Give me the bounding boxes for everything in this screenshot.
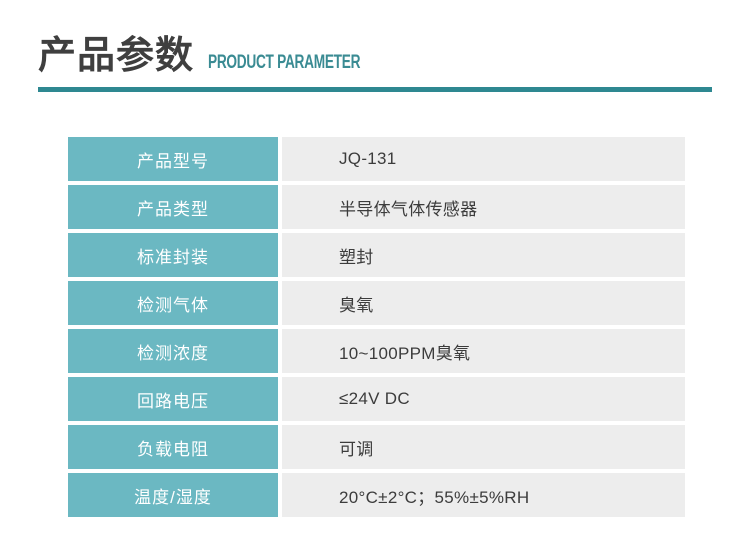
table-row: 回路电压 ≤24V DC [68,377,685,421]
table-row: 产品类型 半导体气体传感器 [68,185,685,229]
table-row: 标准封装 塑封 [68,233,685,277]
header-divider [38,87,712,92]
spec-value: 塑封 [282,233,685,277]
spec-value: 可调 [282,425,685,469]
header-title-group: 产品参数 PRODUCT PARAMETER [38,26,712,78]
spec-value: 10~100PPM臭氧 [282,329,685,373]
spec-label: 标准封装 [68,233,278,277]
spec-table: 产品型号 JQ-131 产品类型 半导体气体传感器 标准封装 塑封 检测气体 臭… [68,137,685,517]
spec-label: 温度/湿度 [68,473,278,517]
spec-label: 负载电阻 [68,425,278,469]
spec-value: JQ-131 [282,137,685,181]
product-parameter-page: 产品参数 PRODUCT PARAMETER 产品型号 JQ-131 产品类型 … [0,0,750,550]
page-title: 产品参数 [38,34,194,78]
spec-value: ≤24V DC [282,377,685,421]
spec-label: 产品类型 [68,185,278,229]
table-row: 温度/湿度 20°C±2°C；55%±5%RH [68,473,685,517]
spec-label: 产品型号 [68,137,278,181]
table-row: 负载电阻 可调 [68,425,685,469]
spec-value: 20°C±2°C；55%±5%RH [282,473,685,517]
page-subtitle: PRODUCT PARAMETER [208,52,360,74]
spec-label: 检测浓度 [68,329,278,373]
table-row: 检测浓度 10~100PPM臭氧 [68,329,685,373]
spec-value: 半导体气体传感器 [282,185,685,229]
spec-label: 检测气体 [68,281,278,325]
spec-label: 回路电压 [68,377,278,421]
table-row: 检测气体 臭氧 [68,281,685,325]
page-header: 产品参数 PRODUCT PARAMETER [38,26,712,92]
table-row: 产品型号 JQ-131 [68,137,685,181]
spec-value: 臭氧 [282,281,685,325]
